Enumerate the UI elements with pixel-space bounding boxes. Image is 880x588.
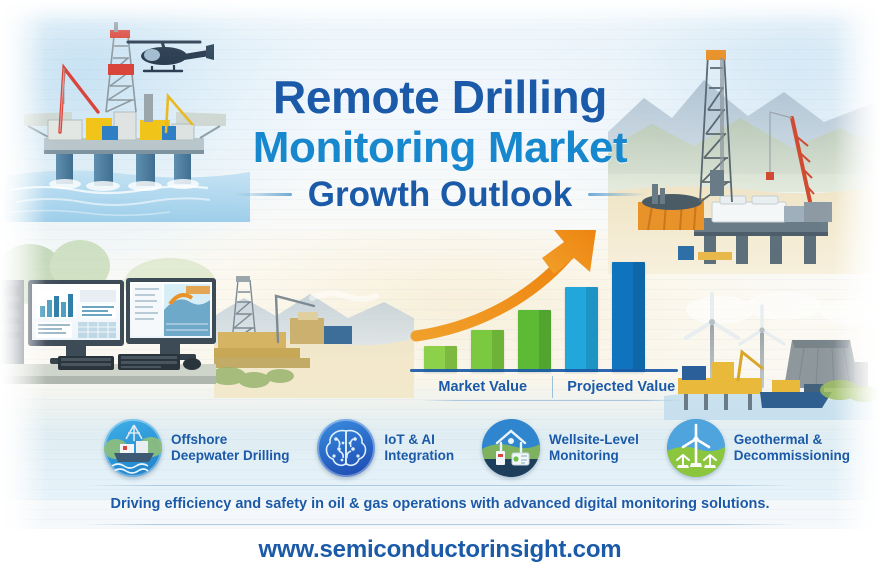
divider-below-tagline [82,524,798,525]
wellsite-house-icon [482,419,540,477]
bar-4 [565,287,598,372]
feature-label-line1: Offshore [171,432,227,447]
feature-label-line1: Wellsite-Level [549,432,639,447]
title-line-3: Growth Outlook [308,177,572,212]
drilling-vessel-icon [104,419,162,477]
growth-bar-chart [424,236,674,372]
feature-label-line2: Decommissioning [734,448,850,463]
legend-market-value: Market Value [414,379,552,395]
ai-brain-icon [317,419,375,477]
edge-fade-top [0,0,880,24]
title-rule-left [234,193,292,196]
legend-underline [420,400,684,401]
feature-wellsite-level-monitoring[interactable]: Wellsite-Level Monitoring [482,419,639,477]
feature-label-wellsite: Wellsite-Level Monitoring [549,432,639,464]
website-url[interactable]: www.semiconductorinsight.com [0,536,880,564]
feature-row: Offshore Deepwater Drilling [104,417,850,479]
feature-label-line2: Integration [384,448,454,463]
feature-iot-ai-integration[interactable]: IoT & AI Integration [317,419,454,477]
bar-3 [518,310,551,372]
title-rule-right [588,193,646,196]
feature-label-line2: Monitoring [549,448,619,463]
feature-label-offshore: Offshore Deepwater Drilling [171,432,290,464]
bar-2 [471,330,504,372]
title-line-2: Monitoring Market [0,126,880,170]
feature-label-line2: Deepwater Drilling [171,448,290,463]
divider-above-tagline [82,485,798,486]
legend-projected-value: Projected Value [553,379,691,395]
tagline: Driving efficiency and safety in oil & g… [0,496,880,512]
title-line-1: Remote Drilling [0,74,880,120]
chart-baseline [410,369,678,372]
poster-heading: Remote Drilling Monitoring Market Growth… [0,74,880,212]
bar-5 [612,262,645,372]
infographic-poster: Remote Drilling Monitoring Market Growth… [0,0,880,588]
feature-offshore-deepwater-drilling[interactable]: Offshore Deepwater Drilling [104,419,290,477]
chart-bars [424,250,674,372]
feature-label-geothermal: Geothermal & Decommissioning [734,432,850,464]
feature-geothermal-decommissioning[interactable]: Geothermal & Decommissioning [667,419,850,477]
chart-legend: Market Value Projected Value [414,376,690,398]
feature-label-line1: Geothermal & [734,432,823,447]
feature-label-line1: IoT & AI [384,432,435,447]
wind-turbine-icon [667,419,725,477]
feature-label-iot: IoT & AI Integration [384,432,454,464]
